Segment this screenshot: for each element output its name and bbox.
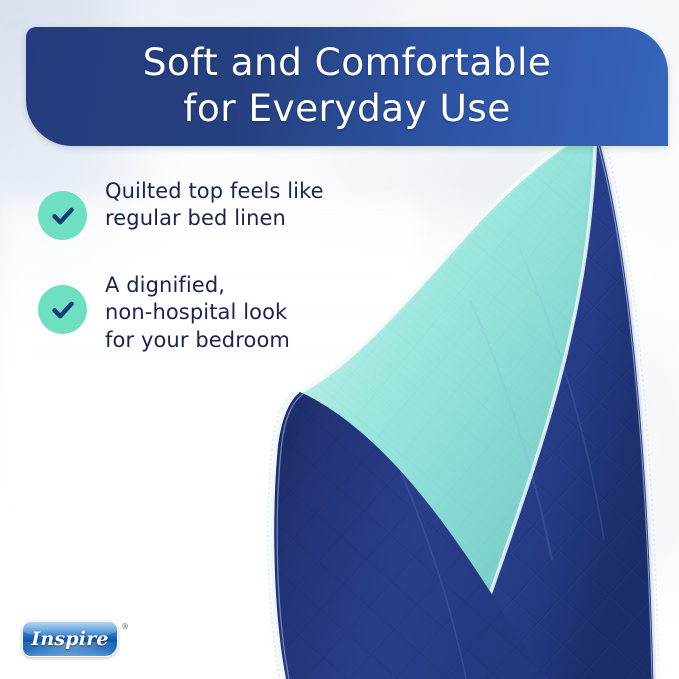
feature-text: Quilted top feels like regular bed linen (105, 178, 324, 233)
feature-list: Quilted top feels like regular bed linen… (38, 178, 368, 354)
banner-title-line-1: Soft and Comfortable (143, 44, 552, 82)
feature-text-line: regular bed linen (105, 205, 324, 232)
feature-text-line: A dignified, (105, 272, 290, 299)
banner-title-line-2: for Everyday Use (183, 90, 510, 128)
header-banner: Soft and Comfortable for Everyday Use (26, 27, 668, 146)
logo-wordmark: Inspire (31, 628, 108, 650)
feature-text-line: for your bedroom (105, 327, 290, 354)
product-infographic-canvas: Soft and Comfortable for Everyday Use Qu… (0, 0, 679, 679)
logo-plate: Inspire (22, 621, 118, 657)
feature-text: A dignified, non-hospital look for your … (105, 272, 290, 354)
registered-trademark-icon: ® (121, 622, 129, 631)
feature-item: Quilted top feels like regular bed linen (38, 178, 368, 240)
feature-text-line: non-hospital look (105, 299, 290, 326)
check-icon (38, 191, 87, 240)
feature-text-line: Quilted top feels like (105, 178, 324, 205)
feature-item: A dignified, non-hospital look for your … (38, 272, 368, 354)
check-icon (38, 285, 87, 334)
brand-logo: Inspire ® (22, 621, 129, 657)
